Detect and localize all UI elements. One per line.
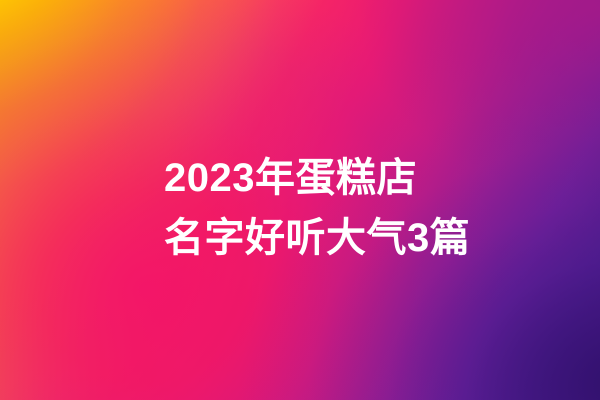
poster-title-line-2: 名字好听大气3篇: [164, 208, 464, 268]
poster-title-line-1: 2023年蛋糕店: [164, 148, 464, 208]
poster-canvas: 2023年蛋糕店 名字好听大气3篇: [0, 0, 600, 400]
poster-title: 2023年蛋糕店 名字好听大气3篇: [164, 148, 464, 268]
